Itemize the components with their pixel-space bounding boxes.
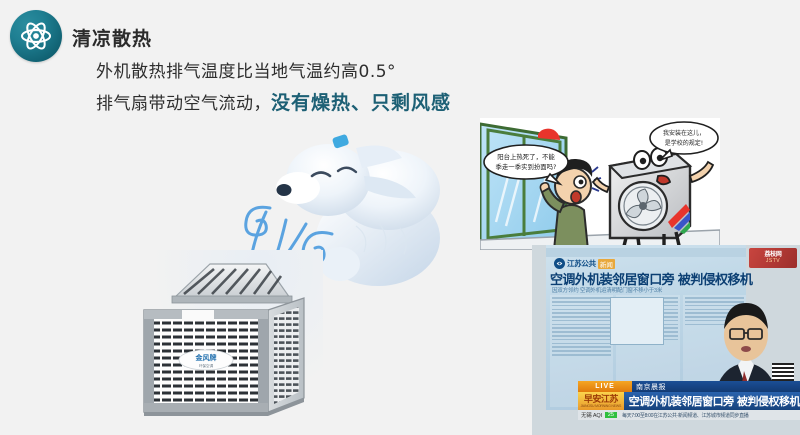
cooler-photo: 金风牌 环保空调 xyxy=(118,250,323,435)
svg-text:环保空调: 环保空调 xyxy=(199,363,214,368)
body-line-1: 外机散热排气温度比当地气温约高0.5° xyxy=(96,57,396,82)
news-source: 南京晨报 xyxy=(632,381,800,392)
station-watermark: 荔枝网 JSTV xyxy=(749,248,797,268)
svg-text:阳台上热死了，不能: 阳台上热死了，不能 xyxy=(497,152,555,161)
body-line-2-highlight: 没有燥热、只剩风感 xyxy=(271,92,451,114)
svg-text:是学校的规定!: 是学校的规定! xyxy=(665,139,703,147)
aqi-label: 无锡 AQI xyxy=(578,411,605,419)
newspaper-masthead-bar xyxy=(546,248,746,257)
svg-text:金风牌: 金风牌 xyxy=(195,353,217,362)
svg-text:我安装在这儿，: 我安装在这儿， xyxy=(663,129,705,137)
live-badge: LIVE xyxy=(578,381,632,392)
channel-logo: 江苏公共 新闻 xyxy=(554,258,615,269)
atom-icon xyxy=(10,10,62,62)
live-badge-label: LIVE xyxy=(595,383,615,390)
body-line-2-plain: 排气扇带动空气流动， xyxy=(96,94,271,114)
lower-third-headline-text: 空调外机装邻居窗口旁 被判侵权移机 xyxy=(629,393,800,409)
program-brand: 早安江苏 JIANGSU MORNING NEWS xyxy=(578,392,624,410)
station-watermark-text: JSTV xyxy=(766,258,780,264)
channel-logo-tag: 新闻 xyxy=(598,259,615,269)
channel-logo-text: 江苏公共 xyxy=(567,258,596,269)
svg-text:季走一季实到扮面吗?: 季走一季实到扮面吗? xyxy=(496,162,557,171)
lower-third-headline: 空调外机装邻居窗口旁 被判侵权移机 xyxy=(624,392,800,410)
program-brand-name: 早安江苏 xyxy=(584,395,618,404)
newspaper-diagram xyxy=(610,297,664,345)
body-line-2: 排气扇带动空气流动，没有燥热、只剩风感 xyxy=(96,88,451,115)
ticker-bar: 无锡 AQI 25 每天7:00至8:00在江苏公共·新闻频道、江苏城市频道同步… xyxy=(578,410,800,420)
program-brand-sub: JIANGSU MORNING NEWS xyxy=(581,404,622,408)
cartoon-illustration: 阳台上热死了，不能 季走一季实到扮面吗? xyxy=(480,118,720,250)
news-screenshot: 江苏公共 新闻 空调外机装邻居窗口旁 被判侵权移机 因双方邻约 空调外机运清明配… xyxy=(532,245,800,435)
news-subheadline: 因双方邻约 空调外机运清明配门窗不移小于3米 xyxy=(552,286,662,294)
ticker-text: 每天7:00至8:00在江苏公共·新闻频道、江苏城市频道同步直播 xyxy=(617,412,800,419)
news-source-label: 南京晨报 xyxy=(636,382,666,392)
page-title: 清凉散热 xyxy=(72,24,152,51)
broadcast-lower-third: LIVE 南京晨报 早安江苏 JIANGSU MORNING NEWS 空调外机… xyxy=(578,381,800,421)
channel-logo-mark xyxy=(554,258,565,269)
aqi-value: 25 xyxy=(605,412,617,418)
slide-root: 清凉散热 外机散热排气温度比当地气温约高0.5° 排气扇带动空气流动，没有燥热、… xyxy=(0,0,800,435)
